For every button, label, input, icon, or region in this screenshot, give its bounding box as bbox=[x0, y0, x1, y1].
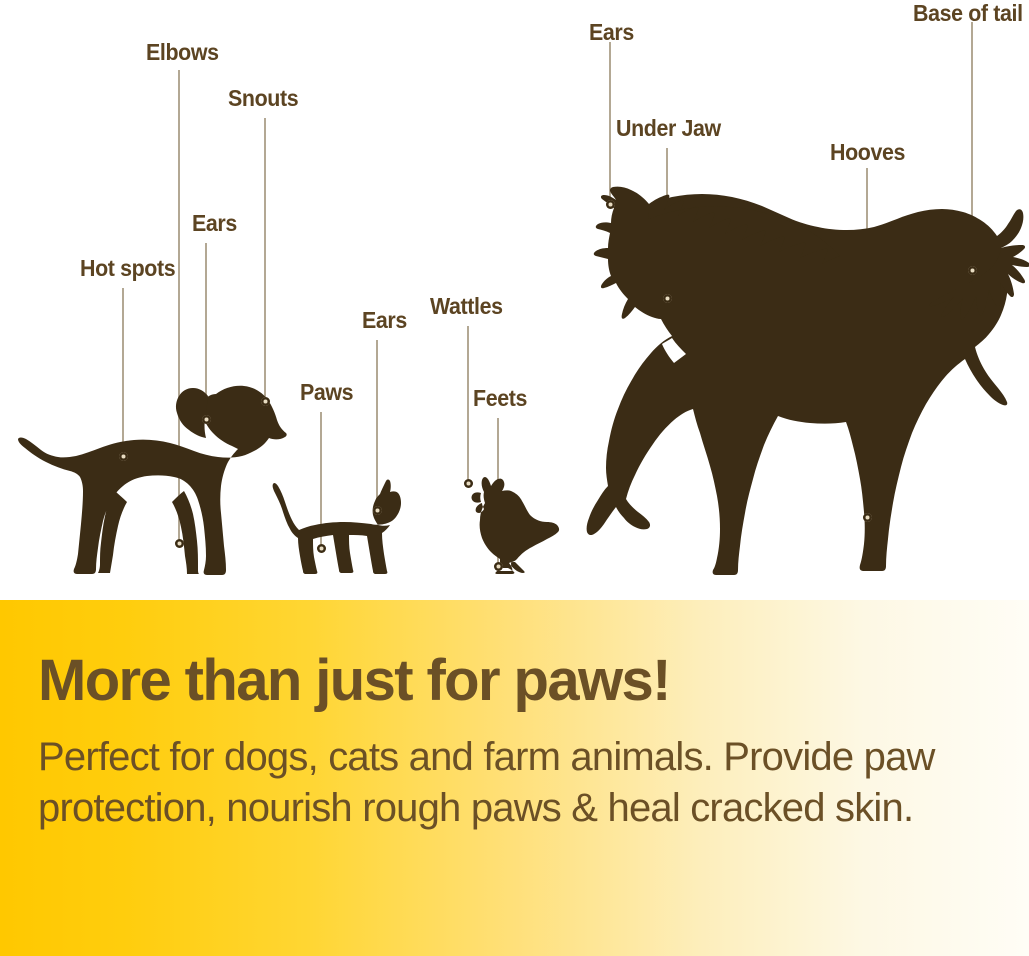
label-hooves: Hooves bbox=[830, 141, 905, 164]
marker-elbows bbox=[175, 539, 184, 548]
animal-diagram: Hot spots Elbows Ears Snouts Paws Ears W… bbox=[0, 0, 1029, 600]
infographic-canvas: Hot spots Elbows Ears Snouts Paws Ears W… bbox=[0, 0, 1029, 956]
leader-line-wattles bbox=[467, 326, 469, 483]
banner-subcopy: Perfect for dogs, cats and farm animals.… bbox=[38, 732, 988, 834]
label-paws: Paws bbox=[300, 381, 353, 404]
marker-cat-ears bbox=[373, 506, 382, 515]
label-hot-spots: Hot spots bbox=[80, 257, 175, 280]
banner-headline: More than just for paws! bbox=[38, 652, 670, 710]
marker-snouts bbox=[261, 397, 270, 406]
chicken-silhouette bbox=[462, 470, 560, 575]
marker-dog-ears bbox=[202, 415, 211, 424]
label-horse-ears: Ears bbox=[589, 21, 634, 44]
label-cat-ears: Ears bbox=[362, 309, 407, 332]
marker-horse-ears bbox=[606, 200, 615, 209]
label-snouts: Snouts bbox=[228, 87, 298, 110]
dog-silhouette bbox=[18, 382, 288, 577]
label-feets: Feets bbox=[473, 387, 527, 410]
marker-hot-spots bbox=[119, 452, 128, 461]
marker-feets bbox=[494, 562, 503, 571]
marker-base-of-tail bbox=[968, 266, 977, 275]
label-base-of-tail: Base of tail bbox=[913, 2, 1023, 25]
label-elbows: Elbows bbox=[146, 41, 219, 64]
cat-silhouette bbox=[272, 478, 402, 576]
leader-line-snouts bbox=[264, 118, 266, 401]
horse-silhouette bbox=[576, 170, 1029, 575]
promo-banner: More than just for paws! Perfect for dog… bbox=[0, 600, 1029, 956]
marker-hooves bbox=[863, 513, 872, 522]
marker-under-jaw bbox=[663, 294, 672, 303]
label-dog-ears: Ears bbox=[192, 212, 237, 235]
label-wattles: Wattles bbox=[430, 295, 503, 318]
marker-paws bbox=[317, 544, 326, 553]
marker-wattles bbox=[464, 479, 473, 488]
label-under-jaw: Under Jaw bbox=[616, 117, 721, 140]
